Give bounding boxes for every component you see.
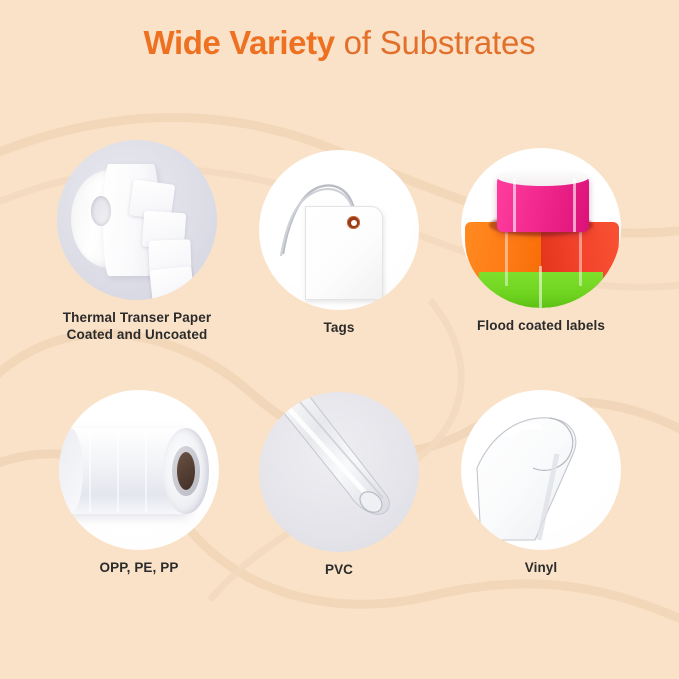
film-highlight [145, 430, 147, 512]
pink-roll-seam [513, 178, 516, 232]
item-caption-line1: Tags [226, 320, 452, 337]
item-opp-pe-pp[interactable]: OPP, PE, PP [26, 390, 252, 577]
item-caption-line2: Coated and Uncoated [24, 327, 250, 344]
red-roll-seam [579, 224, 582, 286]
item-caption: OPP, PE, PP [26, 560, 252, 577]
page-title-strong: Wide Variety [144, 24, 335, 61]
tag-body [305, 206, 383, 300]
pvc-sheet-roll-shape [259, 392, 419, 552]
film-highlight [117, 430, 119, 512]
item-tags[interactable]: Tags [226, 150, 452, 337]
film-highlight [89, 430, 91, 512]
label-roll-hole [91, 196, 111, 226]
item-pvc[interactable]: PVC [226, 392, 452, 579]
item-caption: Tags [226, 320, 452, 337]
item-caption-line1: PVC [226, 562, 452, 579]
item-flood-coated-labels[interactable]: Flood coated labels [428, 148, 654, 335]
thermal-transfer-paper-image [57, 140, 217, 300]
item-thermal-transfer-paper[interactable]: Thermal Transer Paper Coated and Uncoate… [24, 140, 250, 344]
opp-pe-pp-image [59, 390, 219, 550]
item-caption: PVC [226, 562, 452, 579]
item-caption-line1: OPP, PE, PP [26, 560, 252, 577]
item-caption-line1: Flood coated labels [428, 318, 654, 335]
vinyl-image [461, 390, 621, 550]
green-roll-seam [539, 266, 542, 308]
item-caption: Vinyl [428, 560, 654, 577]
item-caption: Thermal Transer Paper Coated and Uncoate… [24, 310, 250, 344]
infographic-page: Wide Variety of Substrates Thermal Trans… [0, 0, 679, 679]
label-strip [149, 266, 194, 300]
tags-image [259, 150, 419, 310]
page-title-light: of Substrates [335, 24, 536, 61]
tag-eyelet-hole [351, 220, 357, 226]
item-caption-line1: Vinyl [428, 560, 654, 577]
vinyl-sheet-roll-shape [461, 390, 621, 550]
pvc-image [259, 392, 419, 552]
flood-coated-labels-image [461, 148, 621, 308]
page-title: Wide Variety of Substrates [0, 26, 679, 59]
pink-roll-seam [573, 178, 576, 232]
item-caption: Flood coated labels [428, 318, 654, 335]
fluorescent-rolls-group [461, 148, 621, 308]
item-caption-line1: Thermal Transer Paper [24, 310, 250, 327]
film-roll-core [177, 452, 195, 490]
item-vinyl[interactable]: Vinyl [428, 390, 654, 577]
